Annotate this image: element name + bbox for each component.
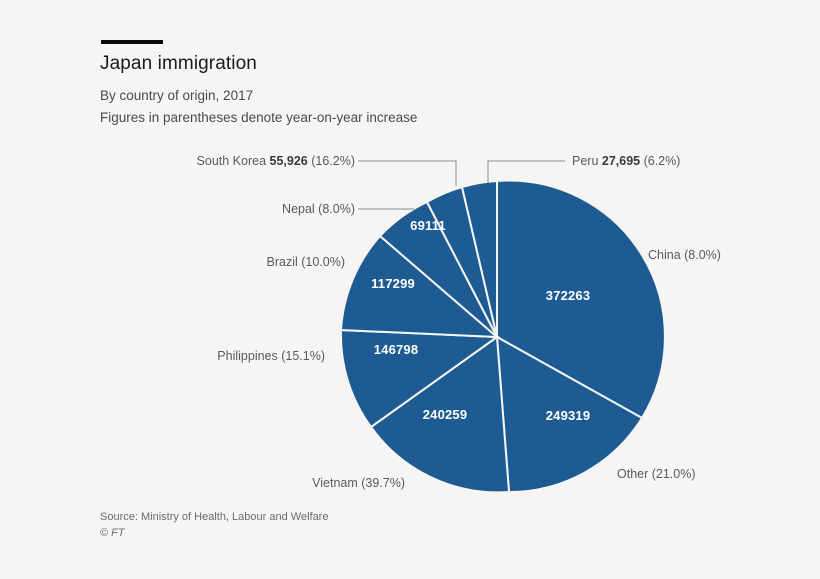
pie-label-peru-pct: (6.2%)	[640, 154, 680, 168]
slice-value-china: 372263	[546, 288, 591, 303]
slice-value-other: 249319	[546, 408, 591, 423]
credit-note: © FT	[100, 527, 125, 539]
pie-label-south-korea-pct: (16.2%)	[308, 154, 355, 168]
pie-label-south-korea: South Korea 55,926 (16.2%)	[120, 155, 355, 168]
slice-value-brazil: 117299	[371, 276, 415, 291]
pie-label-south-korea-name: South Korea	[197, 154, 270, 168]
source-note: Source: Ministry of Health, Labour and W…	[100, 511, 328, 523]
slice-value-vietnam: 240259	[423, 407, 468, 422]
pie-label-peru: Peru 27,695 (6.2%)	[572, 155, 680, 168]
chart-canvas: Japan immigration By country of origin, …	[0, 0, 820, 579]
pie-label-south-korea-value: 55,926	[270, 154, 308, 168]
pie-label-philippines: Philippines (15.1%)	[160, 350, 325, 363]
pie-label-nepal: Nepal (8.0%)	[160, 203, 355, 216]
leader-line-peru	[488, 161, 565, 183]
pie-slices	[341, 181, 665, 493]
pie-label-peru-value: 27,695	[602, 154, 640, 168]
pie-label-vietnam: Vietnam (39.7%)	[200, 477, 405, 490]
slice-value-nepal: 69111	[410, 218, 446, 233]
leader-line-south-korea	[358, 161, 456, 186]
pie-label-brazil: Brazil (10.0%)	[160, 256, 345, 269]
pie-label-other: Other (21.0%)	[617, 468, 696, 481]
pie-label-peru-name: Peru	[572, 154, 602, 168]
pie-label-china: China (8.0%)	[648, 249, 721, 262]
pie-chart: 372263 249319 240259 146798 117299 69111	[0, 0, 820, 579]
slice-value-philippines: 146798	[374, 342, 419, 357]
